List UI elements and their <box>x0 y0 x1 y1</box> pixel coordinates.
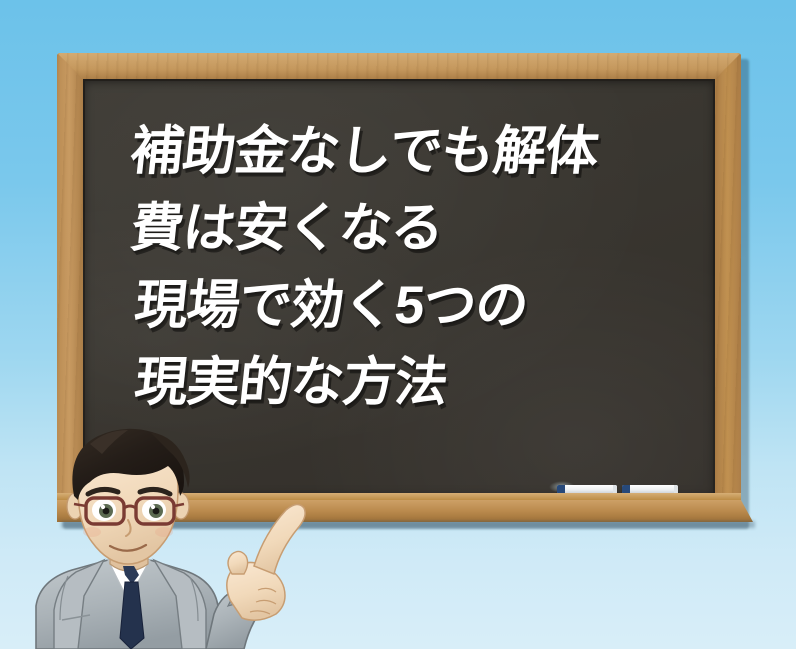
chalkboard-poster: 補助金なしでも解体 費は安くなる 現場で効く5つの 現実的な方法 <box>0 0 796 649</box>
index-finger <box>254 504 305 574</box>
teacher-svg <box>18 424 318 649</box>
teacher-character-illustration <box>18 424 318 649</box>
teacher-pointing-arm <box>206 504 305 649</box>
cheek-right <box>155 527 173 537</box>
thumb <box>228 551 248 574</box>
poster-title: 補助金なしでも解体費は安くなる 現場で効く5つの現実的な方法 <box>0 0 1 1</box>
headline-line-3: 現場で効く5つの <box>93 267 705 344</box>
teacher-head <box>67 429 190 564</box>
headline-line-1: 補助金なしでも解体 <box>93 113 705 190</box>
eye-glint-left <box>101 505 105 509</box>
eye-glint-right <box>151 505 155 509</box>
frame-bevel-top <box>57 53 741 80</box>
headline-line-2: 費は安くなる <box>93 190 705 267</box>
cheek-left <box>83 527 101 537</box>
headline-text-block: 補助金なしでも解体 費は安くなる 現場で効く5つの 現実的な方法 <box>83 113 715 421</box>
frame-bevel-right <box>714 53 741 521</box>
headline-line-4: 現実的な方法 <box>93 344 705 421</box>
